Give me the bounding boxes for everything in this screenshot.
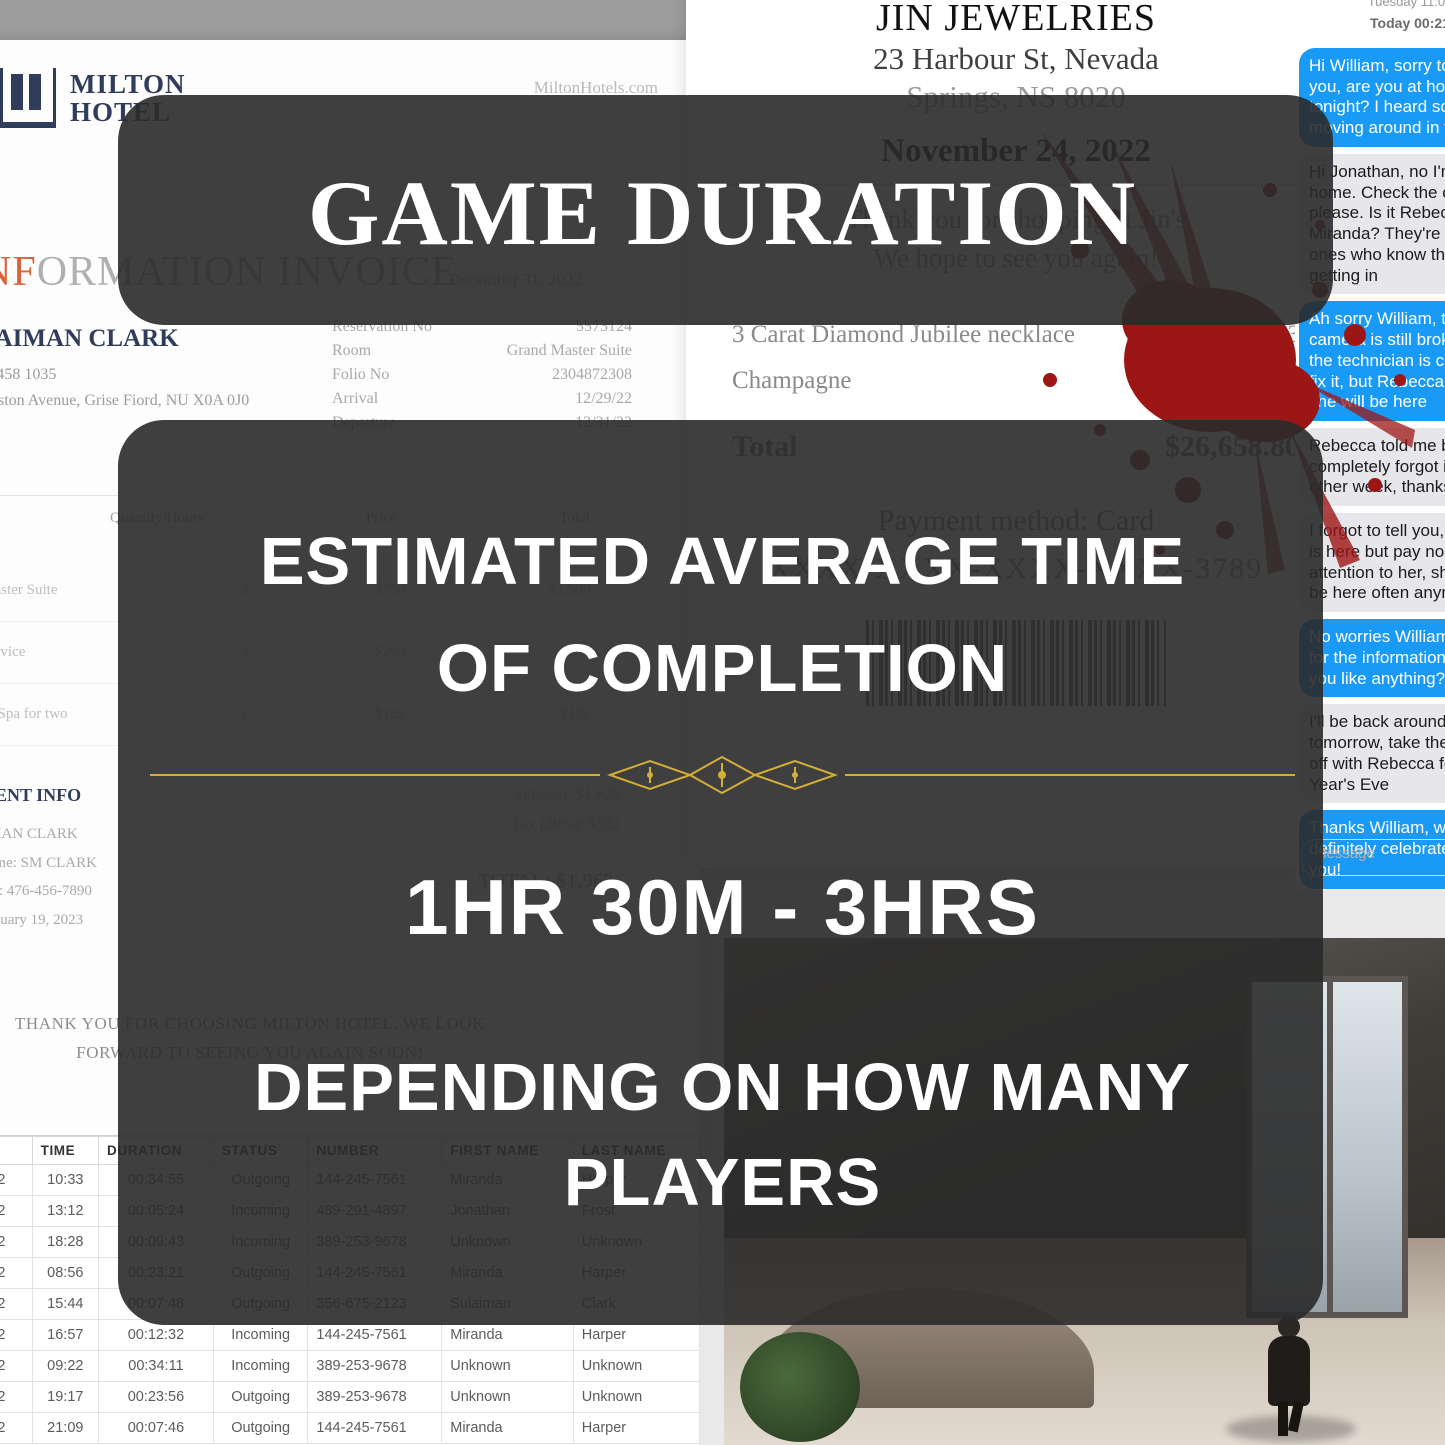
payment-info-body: SULAIMAN CLARK Card Name: SM CLARK Card …: [0, 820, 97, 934]
players-note: DEPENDING ON HOW MANY PLAYERS: [130, 1040, 1315, 1230]
table-cell: Unknown: [442, 1351, 574, 1382]
table-cell: Incoming: [213, 1351, 308, 1382]
col-time: TIME: [32, 1137, 98, 1165]
table-cell: 10:33: [32, 1165, 98, 1196]
lobby-person: [1262, 1316, 1320, 1436]
table-cell: 12/30/22: [0, 1289, 32, 1320]
table-cell: 00:23:56: [99, 1382, 214, 1413]
chat-day-separator: Today 00:21: [1295, 9, 1445, 41]
page-title: GAME DURATION: [0, 160, 1445, 266]
meta-value: Grand Master Suite: [507, 342, 632, 360]
estimated-time-heading: ESTIMATED AVERAGE TIME OF COMPLETION: [130, 508, 1315, 722]
chat-header-time: Tuesday 11:02: [1295, 0, 1445, 9]
meta-value: 2304872308: [552, 366, 632, 384]
table-cell: 12/30/22: [0, 1258, 32, 1289]
table-cell: 00:07:46: [99, 1413, 214, 1444]
lobby-plant: [740, 1332, 860, 1442]
table-cell: 13:12: [32, 1196, 98, 1227]
receipt-item-name: Champagne: [732, 367, 851, 395]
table-cell: Harper: [573, 1413, 699, 1444]
invoice-meta-list: Reservation No5573124 RoomGrand Master S…: [332, 315, 632, 435]
receipt-address-line1: 23 Harbour St, Nevada: [686, 40, 1346, 79]
promo-image: MILTON HOTEL MiltonHotels.com INFORMATIO…: [0, 0, 1445, 1445]
table-cell: 08:56: [32, 1258, 98, 1289]
table-cell: 12/31/22: [0, 1413, 32, 1444]
table-cell: 09:22: [32, 1351, 98, 1382]
table-cell: Unknown: [573, 1382, 699, 1413]
hotel-brand-line1: MILTON: [70, 70, 186, 98]
col-date: DATE: [0, 1137, 32, 1165]
hotel-logo-icon: [0, 68, 56, 128]
table-cell: 389-253-9678: [308, 1351, 442, 1382]
table-cell: 21:09: [32, 1413, 98, 1444]
table-cell: 12/30/22: [0, 1351, 32, 1382]
payment-info-title: PAYMENT INFO: [0, 785, 81, 806]
estimated-time-line2: OF COMPLETION: [130, 615, 1315, 722]
duration-value: 1HR 30M - 3HRS: [130, 862, 1315, 953]
invoice-guest-contact: +1 476-458 1035 30 Kingston Avenue, Gris…: [0, 362, 249, 415]
table-cell: Outgoing: [213, 1413, 308, 1444]
players-note-line1: DEPENDING ON HOW MANY: [130, 1040, 1315, 1135]
table-cell: 16:57: [32, 1320, 98, 1351]
meta-label: Folio No: [332, 366, 389, 384]
table-row: 12/30/2209:2200:34:11Incoming389-253-967…: [0, 1351, 700, 1382]
table-cell: 12/30/22: [0, 1320, 32, 1351]
table-cell: 00:34:11: [99, 1351, 214, 1382]
table-cell: 18:28: [32, 1227, 98, 1258]
meta-label: Room: [332, 342, 371, 360]
table-cell: 19:17: [32, 1382, 98, 1413]
table-cell: Unknown: [573, 1351, 699, 1382]
ornamental-divider-icon: [150, 755, 1295, 795]
estimated-time-line1: ESTIMATED AVERAGE TIME: [130, 508, 1315, 615]
table-row: 12/31/2219:1700:23:56Outgoing389-253-967…: [0, 1382, 700, 1413]
players-note-line2: PLAYERS: [130, 1135, 1315, 1230]
meta-label: Arrival: [332, 390, 378, 408]
table-row: 12/31/2221:0900:07:46Outgoing144-245-756…: [0, 1413, 700, 1444]
table-cell: Miranda: [442, 1413, 574, 1444]
table-cell: 12/31/22: [0, 1382, 32, 1413]
table-cell: 12/29/22: [0, 1227, 32, 1258]
table-cell: 389-253-9678: [308, 1382, 442, 1413]
table-cell: 144-245-7561: [308, 1413, 442, 1444]
table-cell: 12/29/22: [0, 1165, 32, 1196]
table-cell: 15:44: [32, 1289, 98, 1320]
table-cell: Unknown: [442, 1382, 574, 1413]
meta-value: 12/29/22: [575, 390, 632, 408]
table-cell: Outgoing: [213, 1382, 308, 1413]
invoice-guest-name: SULAIMAN CLARK: [0, 325, 179, 353]
table-cell: 12/29/22: [0, 1196, 32, 1227]
receipt-store-name: JIN JEWELRIES: [686, 0, 1346, 40]
